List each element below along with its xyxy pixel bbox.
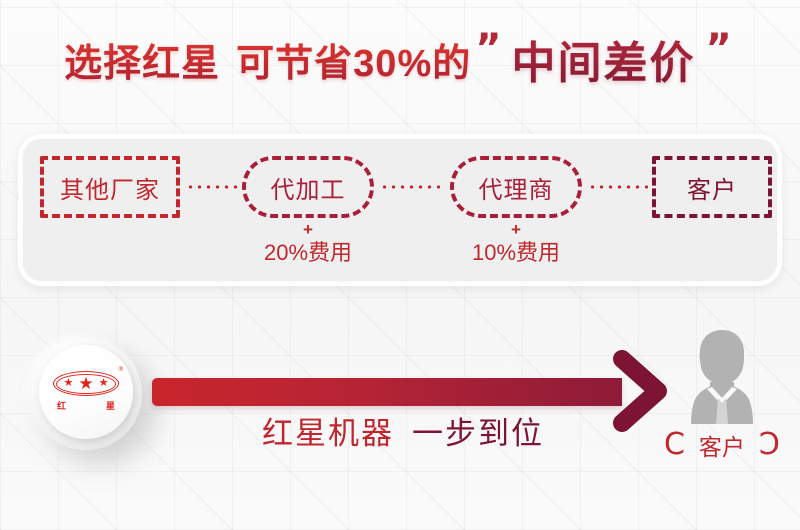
headline: 选择红星 可节省30%的 ” 中间差价 ” xyxy=(0,28,800,90)
hongxing-logo-badge: ★ ★ ★ ® 红 星 xyxy=(30,338,146,454)
quote-close-icon: ” xyxy=(706,26,732,72)
flow-connector-1 xyxy=(186,185,238,189)
star-icon-right: ★ xyxy=(99,378,109,389)
flow-node-customer: 客户 xyxy=(652,156,772,218)
bracket-left-icon: C xyxy=(664,430,685,460)
flow-row: 其他厂家 代加工 代理商 客户 xyxy=(22,156,786,218)
flow-node-agent: 代理商 xyxy=(450,156,582,218)
logo-mark: ★ ★ ★ ® 红 星 xyxy=(53,371,119,415)
fee-plus-sign: + xyxy=(426,222,606,238)
logo-inner-disc: ★ ★ ★ ® 红 星 xyxy=(39,345,133,439)
slogan-tagline: 一步到位 xyxy=(412,408,544,453)
logo-wordmark: 红 星 xyxy=(57,399,115,412)
flow-node-other-factory: 其他厂家 xyxy=(40,156,180,218)
flow-node-oem: 代加工 xyxy=(242,156,374,218)
registered-trademark-icon: ® xyxy=(119,367,123,373)
headline-savings: 可节省30%的 xyxy=(236,32,471,87)
flow-node-label: 其他厂家 xyxy=(60,170,160,205)
slogan-brand: 红星机器 xyxy=(262,408,394,453)
customer-caption: C 客户 Ɔ xyxy=(652,428,792,462)
fee-amount: 10%费用 xyxy=(426,239,606,267)
fee-markup-agent: + 10%费用 xyxy=(426,222,606,267)
fee-amount: 20%费用 xyxy=(218,239,398,267)
middleman-flow-panel: 其他厂家 代加工 代理商 客户 + 20%费用 + 10%费用 xyxy=(18,134,782,286)
logo-word-left: 红 xyxy=(57,399,66,412)
fee-plus-sign: + xyxy=(218,222,398,238)
direct-path-arrow-bar xyxy=(152,378,622,406)
star-icon-center: ★ xyxy=(78,375,93,392)
customer-person-icon xyxy=(664,326,780,430)
star-icon-left: ★ xyxy=(64,378,74,389)
flow-connector-2 xyxy=(380,185,446,189)
customer-label-text: 客户 xyxy=(699,428,745,462)
logo-word-right: 星 xyxy=(106,399,115,412)
flow-node-label: 代加工 xyxy=(271,170,346,205)
quote-open-icon: ” xyxy=(475,26,501,72)
flow-node-label: 代理商 xyxy=(479,170,554,205)
headline-emphasis: 中间差价 xyxy=(506,27,702,91)
flow-connector-3 xyxy=(588,185,648,189)
poster-canvas: 选择红星 可节省30%的 ” 中间差价 ” 其他厂家 代加工 代理商 客户 xyxy=(0,0,800,530)
fee-markup-oem: + 20%费用 xyxy=(218,222,398,267)
headline-lead: 选择红星 xyxy=(64,32,220,87)
bottom-slogan: 红星机器 一步到位 xyxy=(262,410,544,450)
flow-node-label: 客户 xyxy=(687,170,737,205)
bracket-right-icon: Ɔ xyxy=(759,430,780,460)
logo-stars: ★ ★ ★ xyxy=(53,372,119,395)
